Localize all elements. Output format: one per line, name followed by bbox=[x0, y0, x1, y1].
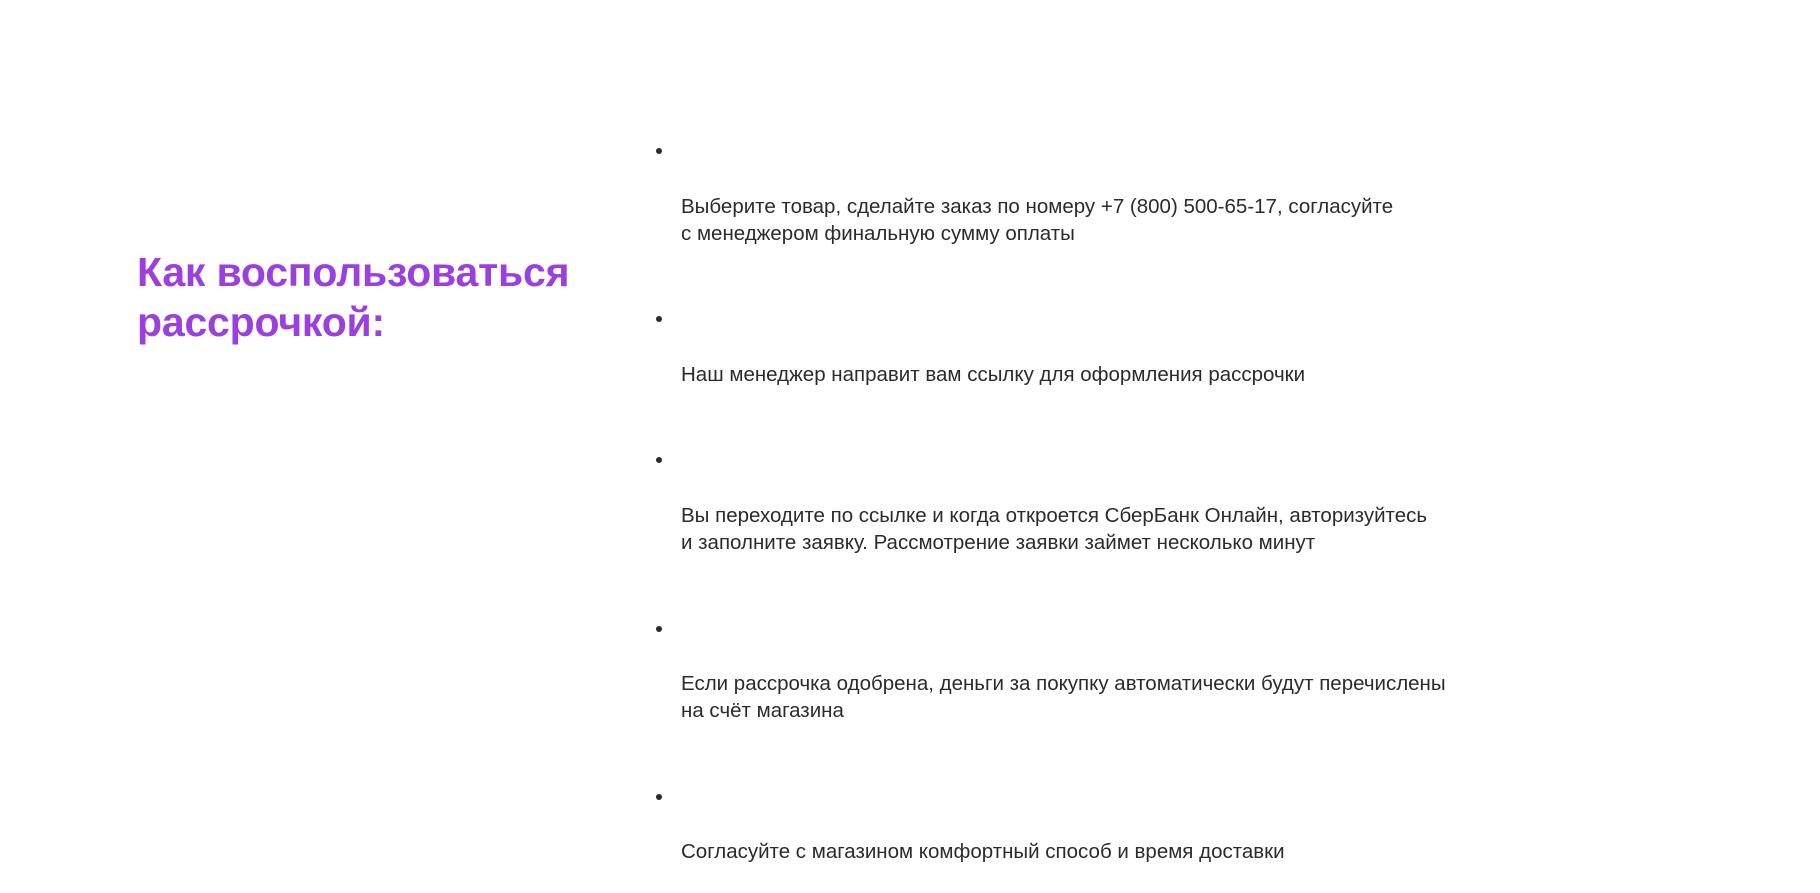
bullet-icon bbox=[656, 626, 662, 632]
installment-steps-list: Выберите товар, сделайте заказ по номеру… bbox=[650, 138, 1700, 893]
list-item-label: Выберите товар, сделайте заказ по номеру… bbox=[681, 193, 1676, 248]
list-item-label: Согласуйте с магазином комфортный способ… bbox=[681, 838, 1676, 865]
list-item: Если рассрочка одобрена, деньги за покуп… bbox=[650, 616, 1676, 752]
list-item-label: Наш менеджер направит вам ссылку для офо… bbox=[681, 361, 1676, 388]
list-item: Наш менеджер направит вам ссылку для офо… bbox=[650, 306, 1676, 415]
list-item: Вы переходите по ссылке и когда откроетс… bbox=[650, 447, 1676, 583]
bullet-icon bbox=[656, 148, 662, 154]
bullet-icon bbox=[656, 457, 662, 463]
bullet-icon bbox=[656, 316, 662, 322]
installment-info-section: Как воспользоваться рассрочкой: Выберите… bbox=[0, 0, 1820, 601]
steps-column: Выберите товар, сделайте заказ по номеру… bbox=[650, 0, 1820, 893]
page-title: Как воспользоваться рассрочкой: bbox=[137, 247, 650, 347]
list-item: Согласуйте с магазином комфортный способ… bbox=[650, 784, 1676, 893]
list-item: Выберите товар, сделайте заказ по номеру… bbox=[650, 138, 1676, 274]
list-item-label: Вы переходите по ссылке и когда откроетс… bbox=[681, 502, 1676, 557]
heading-column: Как воспользоваться рассрочкой: bbox=[0, 0, 650, 347]
list-item-label: Если рассрочка одобрена, деньги за покуп… bbox=[681, 670, 1676, 725]
bullet-icon bbox=[656, 794, 662, 800]
